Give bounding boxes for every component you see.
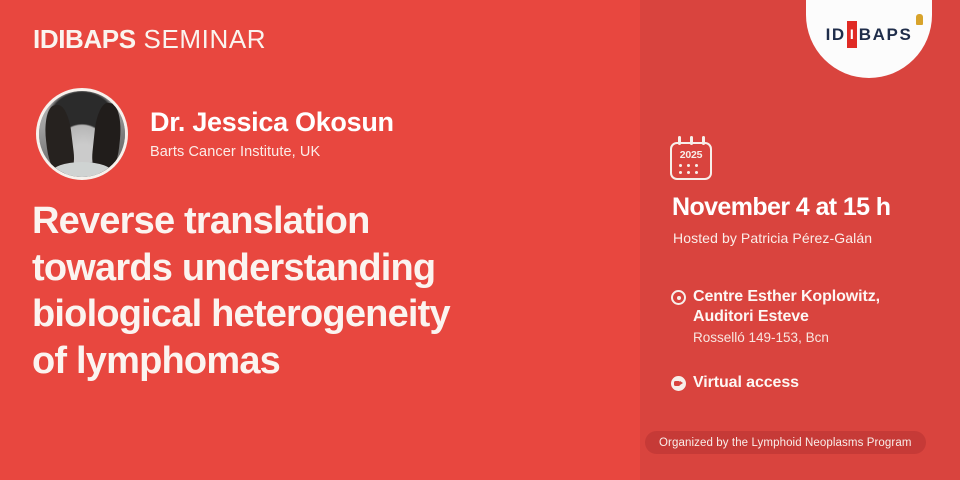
talk-title-line: biological heterogeneity xyxy=(32,291,612,338)
calendar-dots xyxy=(679,164,704,174)
calendar-dot xyxy=(679,171,682,174)
talk-title-line: towards understanding xyxy=(32,245,612,292)
header-brand: IDIBAPS xyxy=(33,24,136,54)
logo-text-first: ID xyxy=(826,26,846,43)
speaker-name: Dr. Jessica Okosun xyxy=(150,108,394,136)
seminar-poster: IDIBAPS SEMINAR ID I BAPS Dr. Jessica Ok… xyxy=(0,0,960,480)
speaker-text: Dr. Jessica Okosun Barts Cancer Institut… xyxy=(150,108,394,160)
calendar-dot xyxy=(679,164,682,167)
header-type: SEMINAR xyxy=(136,24,267,54)
video-camera-icon xyxy=(671,376,686,391)
event-date: November 4 at 15 h xyxy=(672,193,890,222)
calendar-dot xyxy=(695,164,698,167)
talk-title-line: of lymphomas xyxy=(32,338,612,385)
virtual-access-label: Virtual access xyxy=(693,374,799,392)
venue-address: Rosselló 149-153, Bcn xyxy=(693,330,939,345)
venue-block: Centre Esther Koplowitz, Auditori Esteve… xyxy=(671,287,939,345)
calendar-icon: 2025 xyxy=(670,134,716,182)
venue-name-line: Centre Esther Koplowitz, xyxy=(693,288,880,305)
calendar-year: 2025 xyxy=(670,149,712,161)
organizer-label: Organized by the Lymphoid Neoplasms Prog… xyxy=(659,437,912,449)
gold-flame-mark-icon xyxy=(916,14,923,25)
organizer-badge: Organized by the Lymphoid Neoplasms Prog… xyxy=(645,431,926,454)
calendar-dot xyxy=(687,164,690,167)
logo-text-second: BAPS xyxy=(859,26,913,43)
venue-row: Centre Esther Koplowitz, Auditori Esteve xyxy=(671,287,939,326)
venue-name: Centre Esther Koplowitz, Auditori Esteve xyxy=(693,287,880,326)
talk-title-line: Reverse translation xyxy=(32,198,612,245)
logo-inner: ID I BAPS xyxy=(826,24,913,44)
avatar xyxy=(36,88,128,180)
speaker-affiliation: Barts Cancer Institute, UK xyxy=(150,144,394,160)
calendar-dot xyxy=(695,171,698,174)
speaker-block: Dr. Jessica Okosun Barts Cancer Institut… xyxy=(36,88,394,180)
calendar-dot xyxy=(687,171,690,174)
avatar-shoulder xyxy=(51,162,113,180)
poster-header: IDIBAPS SEMINAR xyxy=(33,24,266,55)
venue-name-line: Auditori Esteve xyxy=(693,308,809,325)
event-host: Hosted by Patricia Pérez-Galán xyxy=(673,230,872,246)
location-pin-icon xyxy=(671,290,686,305)
logo-i-letter: I xyxy=(850,27,854,41)
talk-title: Reverse translation towards understandin… xyxy=(32,198,612,385)
virtual-access-row[interactable]: Virtual access xyxy=(671,374,799,392)
calendar-body xyxy=(670,142,712,180)
logo-i-bar: I xyxy=(847,21,857,48)
